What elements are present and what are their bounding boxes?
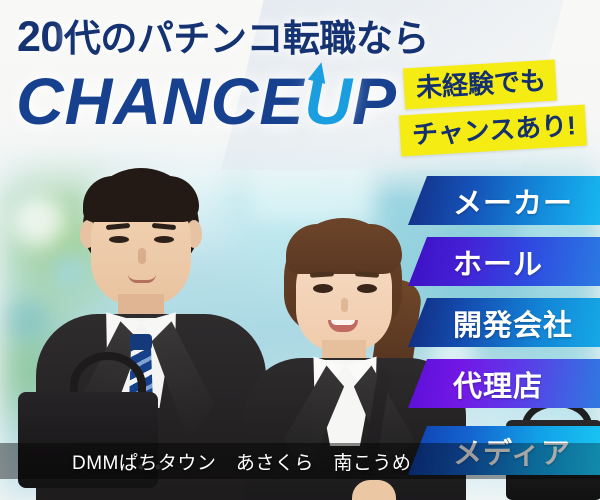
badge-line-1: 未経験でも: [403, 60, 557, 110]
woman-teeth: [331, 320, 355, 325]
man-eye-right: [154, 236, 174, 243]
man-eye-left: [109, 236, 129, 243]
category-banner-agency[interactable]: 代理店: [408, 359, 600, 408]
woman-fringe: [286, 224, 402, 274]
man-fringe: [83, 176, 199, 222]
status-badge: 未経験でも チャンスあり!: [400, 62, 596, 158]
caption-bar: DMMぱちタウン あさくら 南こうめ: [0, 443, 600, 479]
category-banner-hall[interactable]: ホール: [408, 237, 600, 286]
category-label: 開発会社: [453, 302, 573, 344]
man-nose: [138, 248, 146, 264]
category-label: 代理店: [453, 363, 543, 405]
headline-rest: 代のパチンコ転職なら: [64, 18, 429, 59]
category-banner-developer[interactable]: 開発会社: [408, 298, 600, 347]
logo-up-u: U: [304, 68, 352, 134]
category-label: ホール: [453, 241, 543, 283]
logo-up-p: P: [352, 64, 396, 138]
logo-lockup: CHANCEUP: [16, 68, 396, 134]
category-label: メーカー: [453, 180, 573, 222]
woman-eye-right: [357, 284, 377, 293]
logo-chance-text: CHANCE: [16, 64, 304, 138]
category-banner-maker[interactable]: メーカー: [408, 176, 600, 225]
man-tie-knot: [130, 334, 152, 350]
badge-line-2: チャンスあり!: [399, 105, 587, 157]
banner-ad[interactable]: 20代のパチンコ転職なら CHANCEUP 未経験でも チャンスあり! メーカー…: [0, 0, 600, 500]
caption-text: DMMぱちタウン あさくら 南こうめ: [72, 448, 411, 475]
page-title: 20代のパチンコ転職なら: [17, 16, 429, 59]
headline-number: 20: [17, 13, 64, 61]
woman-nose: [341, 298, 348, 312]
woman-eye-left: [313, 284, 333, 293]
